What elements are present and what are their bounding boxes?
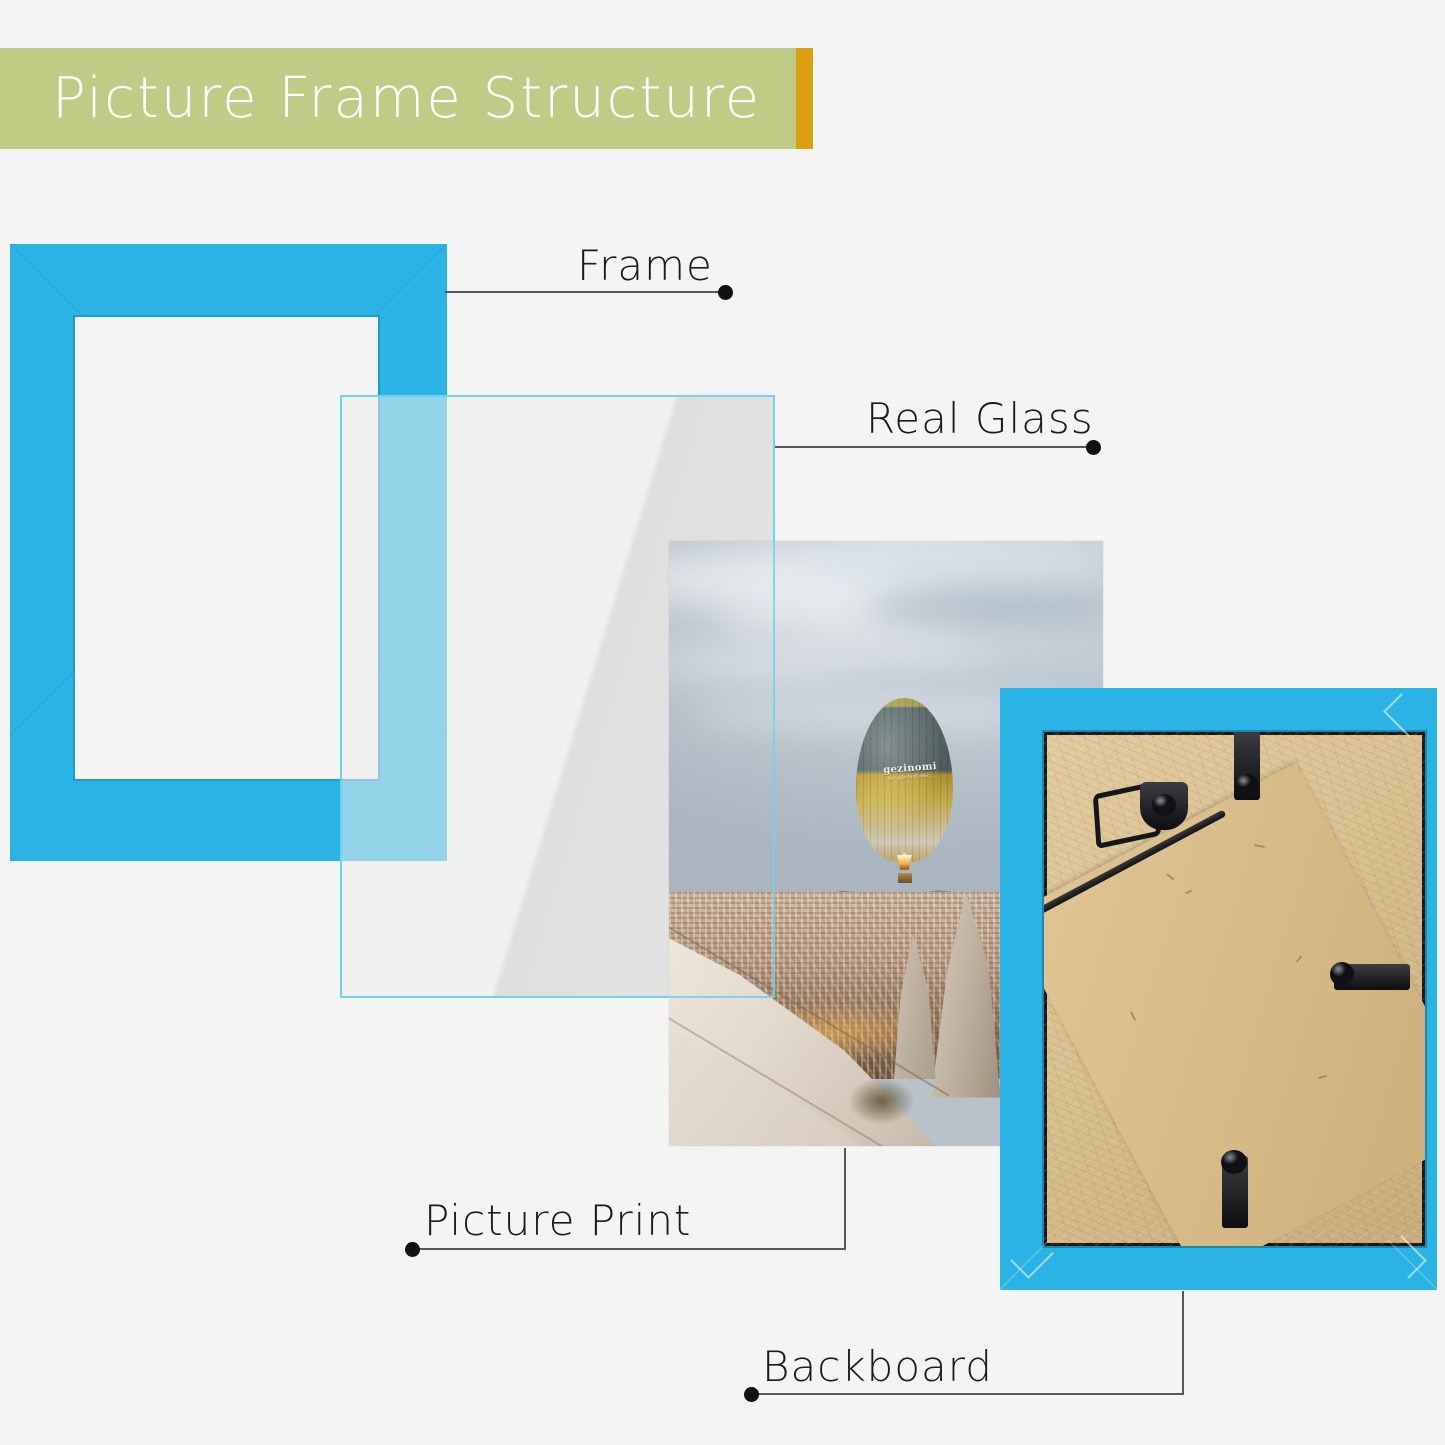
callout-leader-frame xyxy=(445,291,727,293)
callout-label-backboard: Backboard xyxy=(762,1342,993,1391)
title-accent-bar xyxy=(796,48,813,149)
backboard-mdf-panel xyxy=(1044,732,1425,1246)
hot-air-balloon: gezinomi her gün tatil olsa... xyxy=(856,698,954,861)
callout-leader-real-glass xyxy=(775,446,1095,448)
infographic-canvas: Picture Frame Structure xyxy=(0,0,1445,1445)
callout-leader-picture-print-vertical xyxy=(844,1148,846,1250)
corner-staple-top-right xyxy=(1383,693,1427,737)
callout-leader-backboard xyxy=(751,1393,1184,1395)
frame-opening xyxy=(73,315,380,781)
page-title: Picture Frame Structure xyxy=(52,66,761,131)
hanger-screw xyxy=(1152,794,1176,816)
callout-label-real-glass: Real Glass xyxy=(866,394,1094,443)
callout-dot-backboard xyxy=(744,1387,759,1402)
turn-clip-right-pivot xyxy=(1330,962,1354,986)
turn-clip-bottom-pivot xyxy=(1221,1150,1247,1174)
callout-leader-picture-print xyxy=(412,1248,846,1250)
callout-dot-frame xyxy=(718,285,733,300)
turn-clip-top-pivot xyxy=(1235,774,1259,796)
callout-dot-real-glass xyxy=(1086,440,1101,455)
callout-leader-backboard-vertical xyxy=(1182,1291,1184,1395)
callout-dot-picture-print xyxy=(405,1242,420,1257)
balloon-basket xyxy=(898,873,913,883)
callout-label-picture-print: Picture Print xyxy=(424,1196,691,1245)
backboard-part xyxy=(1000,688,1437,1290)
cloud xyxy=(864,587,1103,629)
cloud xyxy=(799,545,1103,587)
shrub xyxy=(834,1061,929,1128)
callout-label-frame: Frame xyxy=(577,241,713,290)
title-banner: Picture Frame Structure xyxy=(0,48,796,149)
